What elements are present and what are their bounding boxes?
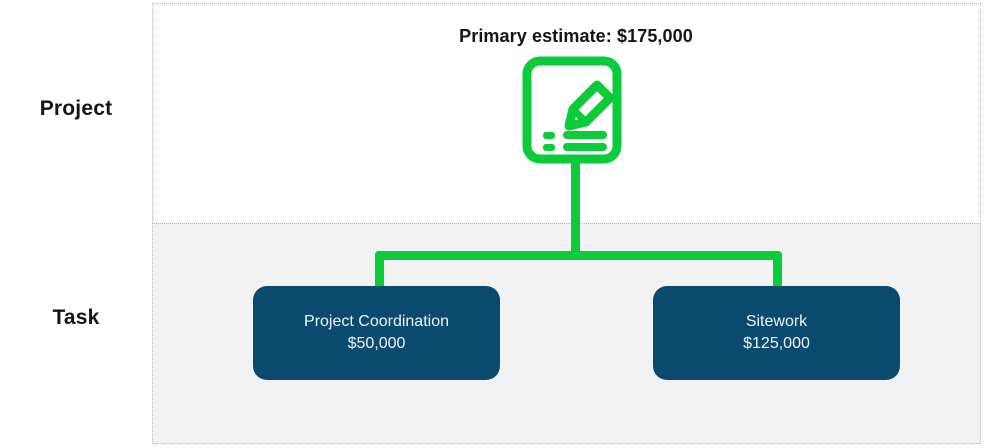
task-node-value: $125,000: [743, 333, 810, 355]
task-node-name: Sitework: [746, 311, 807, 333]
task-node-name: Project Coordination: [304, 311, 449, 333]
task-node-value: $50,000: [348, 333, 406, 355]
root-node[interactable]: Primary estimate: $175,000: [430, 26, 722, 168]
connector-horizontal-bar: [375, 251, 782, 260]
task-node[interactable]: Project Coordination $50,000: [253, 286, 500, 380]
connector-drop-right: [773, 251, 782, 291]
estimate-breakdown-diagram: Project Task Primary estimate: $175,000 …: [0, 0, 994, 448]
lane-label-task: Task: [0, 306, 152, 330]
lane-label-project: Project: [0, 97, 152, 121]
connector-root-stem: [571, 163, 580, 255]
task-node[interactable]: Sitework $125,000: [653, 286, 900, 380]
connector-drop-left: [375, 251, 384, 291]
root-node-title: Primary estimate: $175,000: [430, 26, 722, 47]
note-edit-icon: [521, 55, 631, 168]
